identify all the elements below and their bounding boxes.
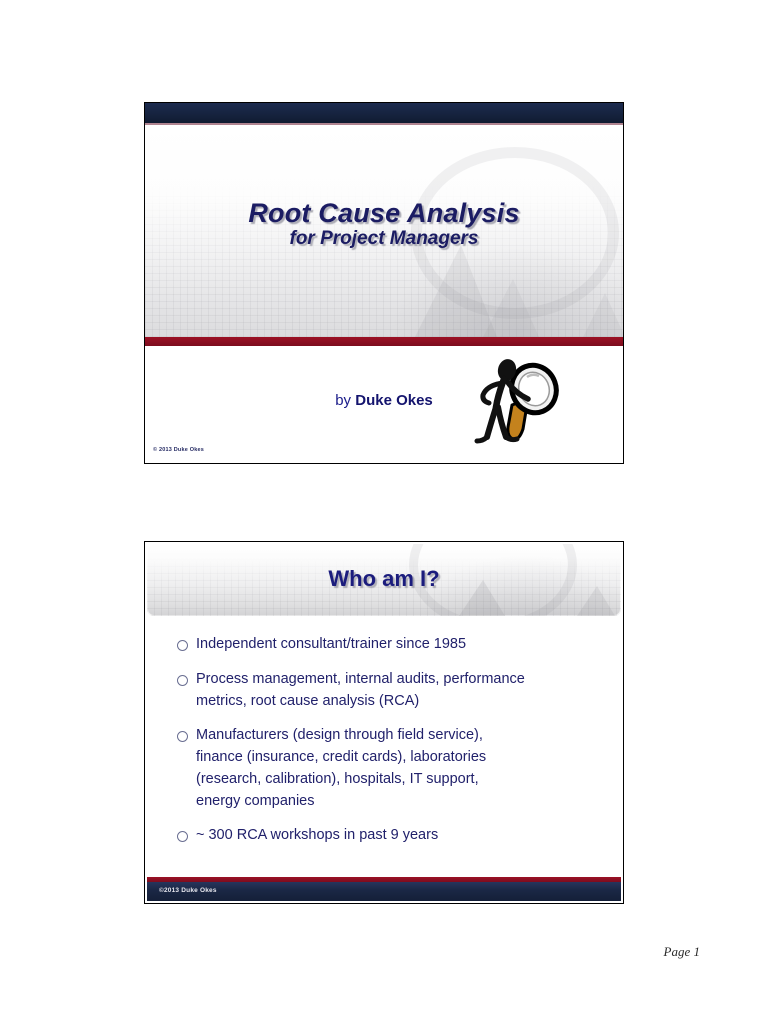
list-item: Manufacturers (design through field serv…: [177, 725, 599, 812]
document-page: Root Cause Analysis for Project Managers…: [0, 0, 768, 1024]
byline-prefix: by: [335, 392, 355, 409]
title-slide-top-bar: [145, 103, 623, 123]
slide-title[interactable]: Root Cause Analysis for Project Managers…: [144, 102, 624, 464]
hollow-circle-bullet-icon: [177, 675, 188, 686]
slide-who-am-i[interactable]: Who am I? Independent consultant/trainer…: [144, 541, 624, 904]
title-slide-body: by Duke Okes: [145, 346, 623, 463]
hollow-circle-bullet-icon: [177, 731, 188, 742]
presentation-subtitle: for Project Managers: [145, 229, 623, 250]
list-item-text: Process management, internal audits, per…: [196, 669, 525, 713]
list-item-text: Independent consultant/trainer since 198…: [196, 634, 466, 656]
hollow-circle-bullet-icon: [177, 640, 188, 651]
title-slide-heading-group: Root Cause Analysis for Project Managers: [145, 199, 623, 250]
list-item: ~ 300 RCA workshops in past 9 years: [177, 825, 599, 847]
list-item: Process management, internal audits, per…: [177, 669, 599, 713]
list-item: Independent consultant/trainer since 198…: [177, 634, 599, 656]
presentation-title: Root Cause Analysis: [145, 199, 623, 227]
decorative-wedge-shape: [483, 279, 539, 337]
title-slide-maroon-divider: [145, 337, 623, 346]
title-slide-copyright: © 2013 Duke Okes: [153, 447, 204, 453]
decorative-wedge-shape: [415, 245, 497, 337]
footer-copyright: ©2013 Duke Okes: [159, 887, 217, 894]
hollow-circle-bullet-icon: [177, 831, 188, 842]
who-am-i-header-band: Who am I?: [147, 544, 621, 616]
who-am-i-footer-bar: ©2013 Duke Okes: [147, 882, 621, 901]
byline-author-name: Duke Okes: [355, 392, 433, 409]
list-item-text: Manufacturers (design through field serv…: [196, 725, 486, 812]
decorative-wedge-shape: [583, 293, 624, 337]
page-number: Page 1: [664, 944, 700, 960]
who-am-i-bullet-list: Independent consultant/trainer since 198…: [147, 622, 621, 877]
list-item-text: ~ 300 RCA workshops in past 9 years: [196, 825, 438, 847]
magnifying-glass-person-icon: [465, 351, 565, 447]
slide-heading: Who am I?: [147, 566, 621, 592]
